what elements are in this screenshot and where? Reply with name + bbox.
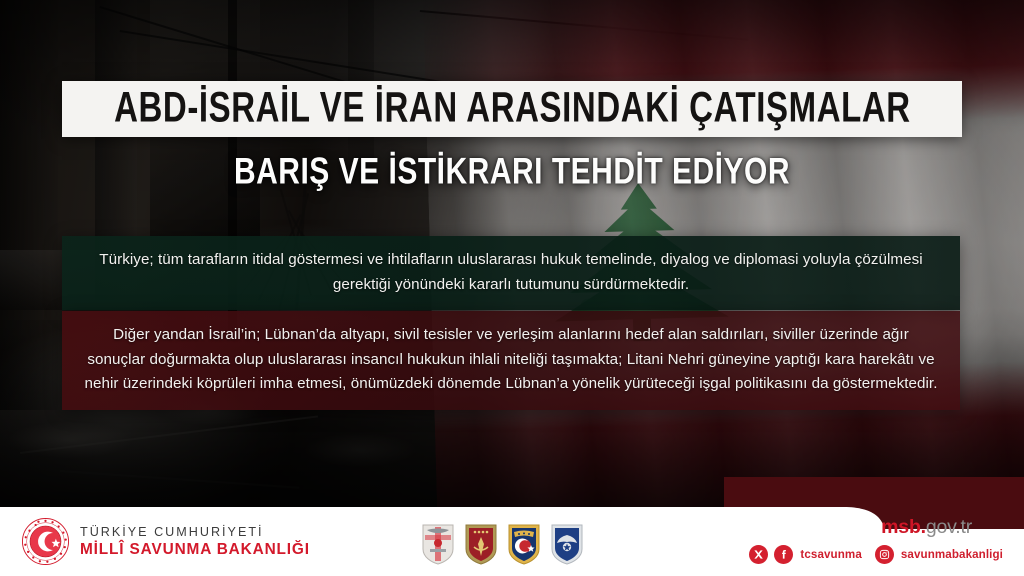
website-brand: msb.: [881, 516, 926, 538]
x-twitter-icon[interactable]: [749, 545, 768, 564]
headline-title: ABD-İSRAİL VE İRAN ARASINDAKİ ÇATIŞMALAR: [114, 85, 911, 133]
footer-bar: TÜRKİYE CUMHURİYETİ MİLLÎ SAVUNMA BAKANL…: [0, 507, 1024, 576]
website-url[interactable]: msb.gov.tr: [749, 516, 972, 539]
msb-emblem-icon: [22, 518, 69, 565]
genelkurmay-baskanligi-crest: [421, 523, 455, 565]
armed-forces-crests: [421, 523, 584, 565]
msb-announcement-poster: ABD-İSRAİL VE İRAN ARASINDAKİ ÇATIŞMALAR…: [0, 0, 1024, 576]
hava-kuvvetleri-komutanligi-crest: [550, 523, 584, 565]
ministry-lockup: TÜRKİYE CUMHURİYETİ MİLLÎ SAVUNMA BAKANL…: [22, 518, 310, 565]
ministry-line-2: MİLLÎ SAVUNMA BAKANLIĞI: [80, 540, 310, 559]
kara-kuvvetleri-komutanligi-crest: [464, 523, 498, 565]
statement-paragraph-2: Diğer yandan İsrail’in; Lübnan’da altyap…: [62, 311, 960, 410]
ministry-wordmark: TÜRKİYE CUMHURİYETİ MİLLÎ SAVUNMA BAKANL…: [80, 524, 310, 559]
ministry-line-1: TÜRKİYE CUMHURİYETİ: [80, 524, 310, 540]
instagram-handle[interactable]: savunmabakanligi: [901, 548, 1003, 561]
headline-subtitle: BARIŞ VE İSTİKRARI TEHDİT EDİYOR: [0, 152, 1024, 193]
facebook-handle[interactable]: tcsavunma: [800, 548, 861, 561]
instagram-icon[interactable]: [875, 545, 894, 564]
statement-paragraph-1: Türkiye; tüm tarafların itidal göstermes…: [62, 236, 960, 310]
facebook-icon[interactable]: [774, 545, 793, 564]
headline-banner: ABD-İSRAİL VE İRAN ARASINDAKİ ÇATIŞMALAR: [62, 81, 962, 137]
social-links: tcsavunma savunmabakanligi: [749, 545, 1010, 564]
contact-block: msb.gov.tr tcsavunma savunmabakanligi: [749, 516, 1010, 564]
deniz-kuvvetleri-komutanligi-crest: [507, 523, 541, 565]
website-domain: gov.tr: [926, 516, 972, 538]
